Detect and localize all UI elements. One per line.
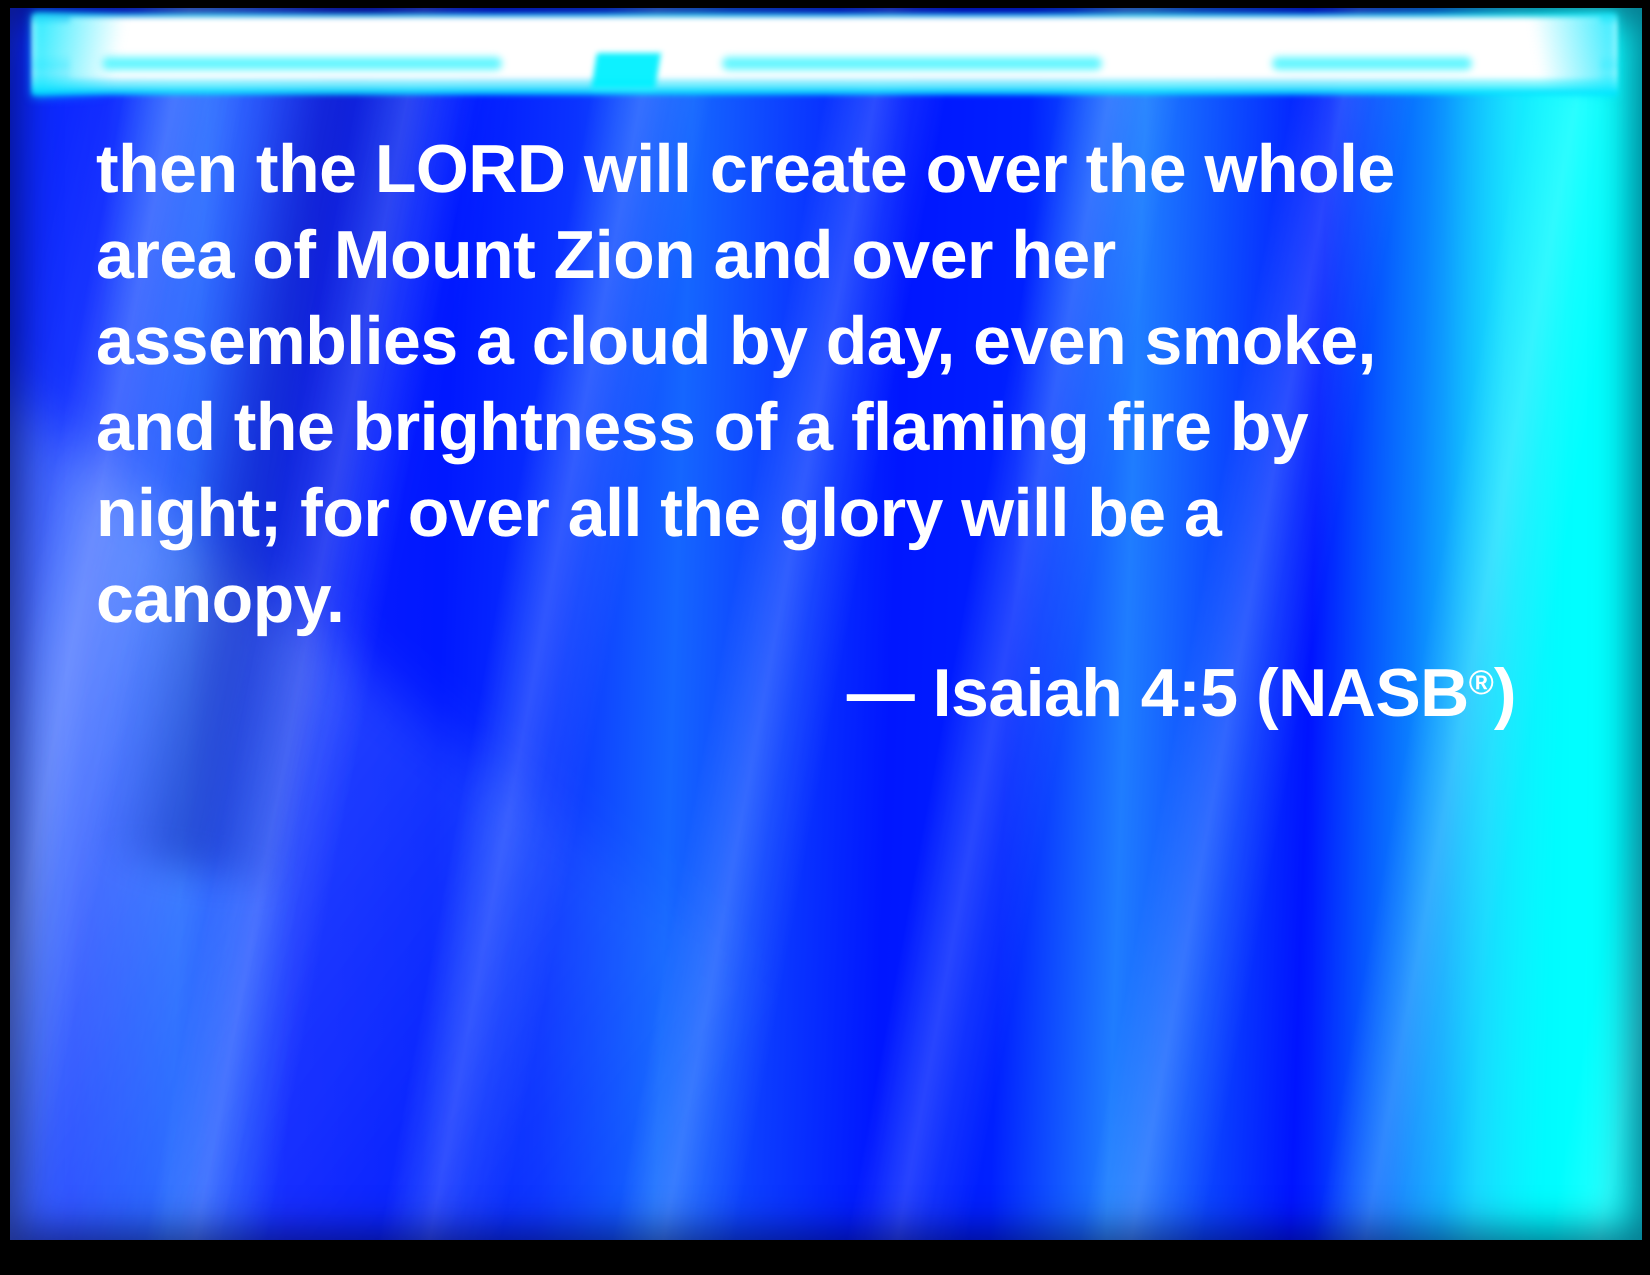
verse-line: then the LORD will create over the whole [96, 126, 1516, 212]
slide-background-panel: then the LORD will create over the whole… [10, 8, 1642, 1240]
verse-line: canopy. [96, 556, 1516, 642]
verse-line: area of Mount Zion and over her [96, 212, 1516, 298]
attribution-suffix: ) [1494, 655, 1516, 731]
verse-line: assemblies a cloud by day, even smoke, [96, 298, 1516, 384]
registered-trademark-icon: ® [1469, 664, 1494, 702]
verse-line: night; for over all the glory will be a [96, 470, 1516, 556]
verse-attribution: — Isaiah 4:5 (NASB®) [96, 642, 1516, 734]
attribution-prefix: — Isaiah 4:5 (NASB [847, 655, 1469, 731]
verse-slide: then the LORD will create over the whole… [0, 0, 1650, 1275]
verse-line: and the brightness of a flaming fire by [96, 384, 1516, 470]
attribution-text: — Isaiah 4:5 (NASB®) [847, 655, 1516, 731]
verse-text-block: then the LORD will create over the whole… [96, 126, 1516, 642]
